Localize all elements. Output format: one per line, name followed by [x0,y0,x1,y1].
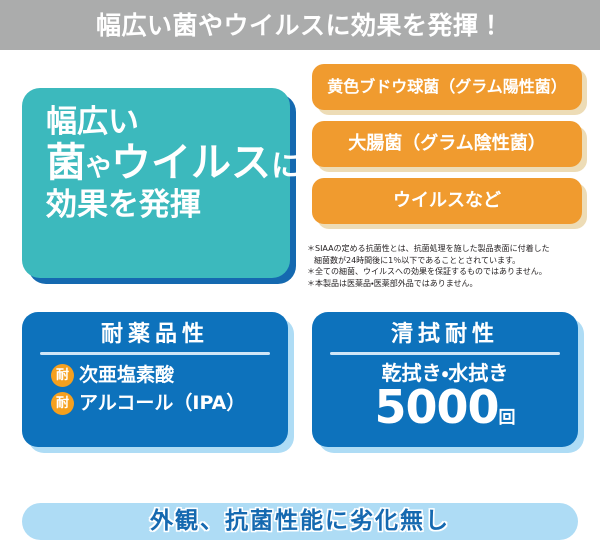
header-banner: 幅広い菌やウイルスに効果を発揮！ [0,0,600,50]
panel-title: 耐薬品性 [38,322,272,347]
pathogen-pill-body: 大腸菌（グラム陰性菌） [312,121,582,167]
pathogen-pill: ウイルスなど [312,178,582,224]
hero-line-2: 菌やウイルスに [46,142,290,184]
footnote-line: ＊SIAAの定める抗菌性とは、抗菌処理を施した製品表面に付着した [307,243,597,255]
pathogen-pill-body: 黄色ブドウ球菌（グラム陽性菌） [312,64,582,110]
footnote-line: ＊本製品は医薬品・医薬部外品ではありません。 [307,278,597,290]
hero-line-3: 効果を発揮 [46,189,290,222]
wipe-count-number: 5000 [374,380,498,434]
pathogen-pill-label: 大腸菌（グラム陰性菌） [348,135,545,153]
panel-title: 清拭耐性 [328,322,562,347]
bottom-banner: 外観、抗菌性能に劣化無し [22,503,578,540]
footnote-line: ＊全ての細菌、ウイルスへの効果を保証するものではありません。 [307,266,597,278]
chemical-resistance-item-label: アルコール（IPA） [79,394,245,413]
panel-wipe-resistance-body: 清拭耐性 乾拭き・水拭き 5000回 [312,312,578,447]
wipe-count: 5000回 [328,384,562,430]
resistance-badge-icon: 耐 [51,392,74,415]
hero-line-2-part-d: に [271,149,301,184]
chemical-resistance-item-label: 次亜塩素酸 [79,366,174,385]
wipe-count-unit: 回 [499,408,516,428]
panel-wipe-resistance: 清拭耐性 乾拭き・水拭き 5000回 [312,312,578,447]
feature-panel-row: 耐薬品性 耐 次亜塩素酸 耐 アルコール（IPA） 清拭耐性 乾拭き・水拭き 5… [0,312,600,457]
hero-card: 幅広い 菌やウイルスに 効果を発揮 [22,88,290,278]
hero-line-2-part-c: ウイルス [111,140,271,186]
page-title: 幅広い菌やウイルスに効果を発揮！ [96,13,504,38]
hero-line-2-part-b: や [86,153,111,182]
hero-line-1: 幅広い [46,106,290,139]
footnote-line: 細菌数が24時間後に1％以下であることとされています。 [307,255,597,267]
chemical-resistance-item: 耐 次亜塩素酸 [51,364,272,387]
footnote-block: ＊SIAAの定める抗菌性とは、抗菌処理を施した製品表面に付着した 細菌数が24時… [307,243,597,289]
chemical-resistance-item-list: 耐 次亜塩素酸 耐 アルコール（IPA） [38,364,272,415]
chemical-resistance-item: 耐 アルコール（IPA） [51,392,272,415]
panel-chemical-resistance-body: 耐薬品性 耐 次亜塩素酸 耐 アルコール（IPA） [22,312,288,447]
panel-divider [40,352,270,355]
pathogen-pill-label: ウイルスなど [393,192,501,210]
panel-chemical-resistance: 耐薬品性 耐 次亜塩素酸 耐 アルコール（IPA） [22,312,288,447]
bottom-banner-text: 外観、抗菌性能に劣化無し [150,510,450,533]
pathogen-pill-label: 黄色ブドウ球菌（グラム陽性菌） [327,79,567,95]
top-region: 幅広い 菌やウイルスに 効果を発揮 黄色ブドウ球菌（グラム陽性菌） 大腸菌（グラ… [0,50,600,310]
pathogen-pill-body: ウイルスなど [312,178,582,224]
pathogen-pill: 大腸菌（グラム陰性菌） [312,121,582,167]
hero-card-body: 幅広い 菌やウイルスに 効果を発揮 [22,88,290,278]
hero-line-2-part-a: 菌 [46,140,86,186]
panel-divider [330,352,560,355]
pathogen-pill: 黄色ブドウ球菌（グラム陽性菌） [312,64,582,110]
pathogen-pill-list: 黄色ブドウ球菌（グラム陽性菌） 大腸菌（グラム陰性菌） ウイルスなど [312,64,588,235]
resistance-badge-icon: 耐 [51,364,74,387]
